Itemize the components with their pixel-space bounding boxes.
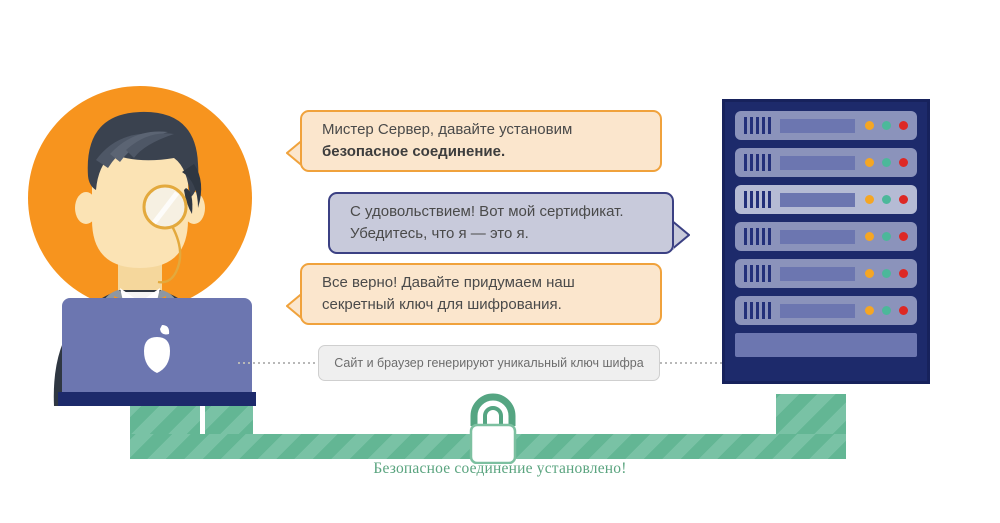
led-group: [865, 195, 908, 204]
vent-group: [744, 265, 771, 282]
bubble-line-2: безопасное соединение.: [322, 141, 640, 163]
vent-group: [744, 191, 771, 208]
unit-panel: [780, 267, 855, 281]
vent-group: [744, 154, 771, 171]
dotted-line-right: [660, 362, 724, 364]
unit-panel: [780, 119, 855, 133]
server-unit: [735, 259, 917, 288]
led-orange: [865, 269, 874, 278]
led-green: [882, 306, 891, 315]
led-red: [899, 232, 908, 241]
server-unit: [735, 148, 917, 177]
led-green: [882, 158, 891, 167]
server-unit: [735, 222, 917, 251]
led-green: [882, 269, 891, 278]
led-group: [865, 121, 908, 130]
server-blank-panel: [735, 333, 917, 357]
server-rack: [722, 99, 930, 384]
key-generation-note: Сайт и браузер генерируют уникальный клю…: [318, 345, 660, 381]
led-group: [865, 269, 908, 278]
unit-panel: [780, 156, 855, 170]
secure-connection-caption: Безопасное соединение установлено!: [0, 460, 1000, 478]
led-green: [882, 121, 891, 130]
unit-panel: [780, 193, 855, 207]
infographic-canvas: Безопасное соединение установлено!: [0, 0, 1000, 523]
led-red: [899, 121, 908, 130]
bubble-line-2: Убедитесь, что я — это я.: [350, 223, 652, 245]
vent-group: [744, 302, 771, 319]
led-group: [865, 158, 908, 167]
padlock-icon: [460, 392, 526, 464]
led-orange: [865, 121, 874, 130]
unit-panel: [780, 304, 855, 318]
led-orange: [865, 306, 874, 315]
bubble-line-2: секретный ключ для шифрования.: [322, 294, 640, 316]
bubble-server-certificate: С удовольствием! Вот мой сертификат. Убе…: [328, 192, 674, 254]
led-red: [899, 269, 908, 278]
led-orange: [865, 232, 874, 241]
led-orange: [865, 195, 874, 204]
browser-user-gentleman: [14, 76, 299, 406]
led-green: [882, 232, 891, 241]
laptop-base: [58, 392, 256, 406]
server-unit: [735, 111, 917, 140]
channel-right-arm: [776, 394, 846, 439]
led-red: [899, 306, 908, 315]
bubble-line-1: Мистер Сервер, давайте установим: [322, 119, 640, 141]
led-red: [899, 158, 908, 167]
vent-group: [744, 117, 771, 134]
led-group: [865, 232, 908, 241]
led-red: [899, 195, 908, 204]
vent-group: [744, 228, 771, 245]
bubble-line-1: С удовольствием! Вот мой сертификат.: [350, 201, 652, 223]
server-unit-active: [735, 185, 917, 214]
led-group: [865, 306, 908, 315]
bubble-client-key-exchange: Все верно! Давайте придумаем наш секретн…: [300, 263, 662, 325]
bubble-client-hello: Мистер Сервер, давайте установим безопас…: [300, 110, 662, 172]
dotted-line-left: [238, 362, 318, 364]
server-unit: [735, 296, 917, 325]
bubble-line-1: Все верно! Давайте придумаем наш: [322, 272, 640, 294]
led-green: [882, 195, 891, 204]
unit-panel: [780, 230, 855, 244]
led-orange: [865, 158, 874, 167]
